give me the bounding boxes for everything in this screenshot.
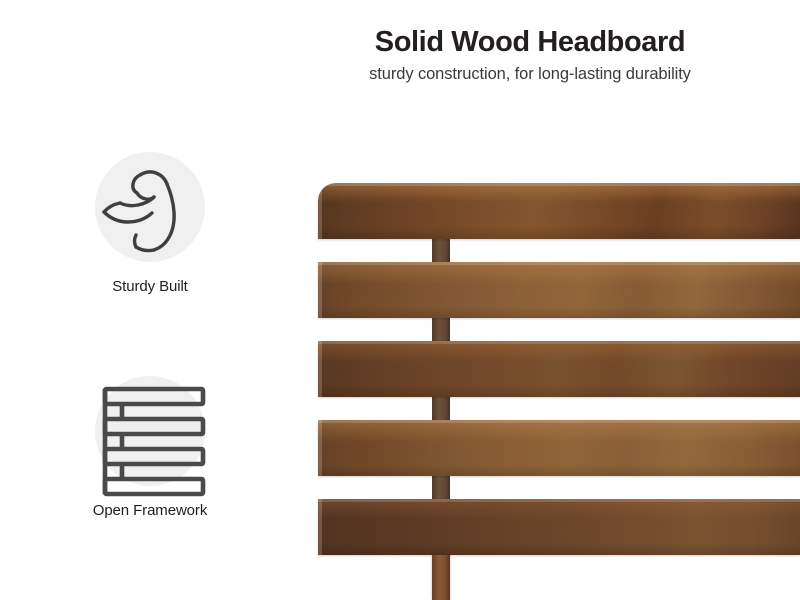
headboard-slat-2 [318, 262, 800, 318]
headboard-slat-4 [318, 420, 800, 476]
icon-circle-sturdy-built [95, 152, 205, 262]
headboard-slat-3 [318, 341, 800, 397]
feature-open-framework: Open Framework [40, 376, 260, 519]
headboard-slat-5 [318, 499, 800, 555]
headboard-slat-1 [318, 183, 800, 239]
infographic-canvas: Solid Wood Headboard sturdy construction… [0, 0, 800, 600]
flexed-bicep-icon [96, 155, 204, 259]
headboard-post-front [432, 555, 450, 600]
solid-wood-headboard-photo [318, 0, 800, 600]
slatted-frame-icon [91, 379, 209, 483]
icon-circle-open-framework [95, 376, 205, 486]
feature-label-sturdy-built: Sturdy Built [40, 278, 260, 295]
feature-sturdy-built: Sturdy Built [40, 152, 260, 295]
feature-label-open-framework: Open Framework [40, 502, 260, 519]
